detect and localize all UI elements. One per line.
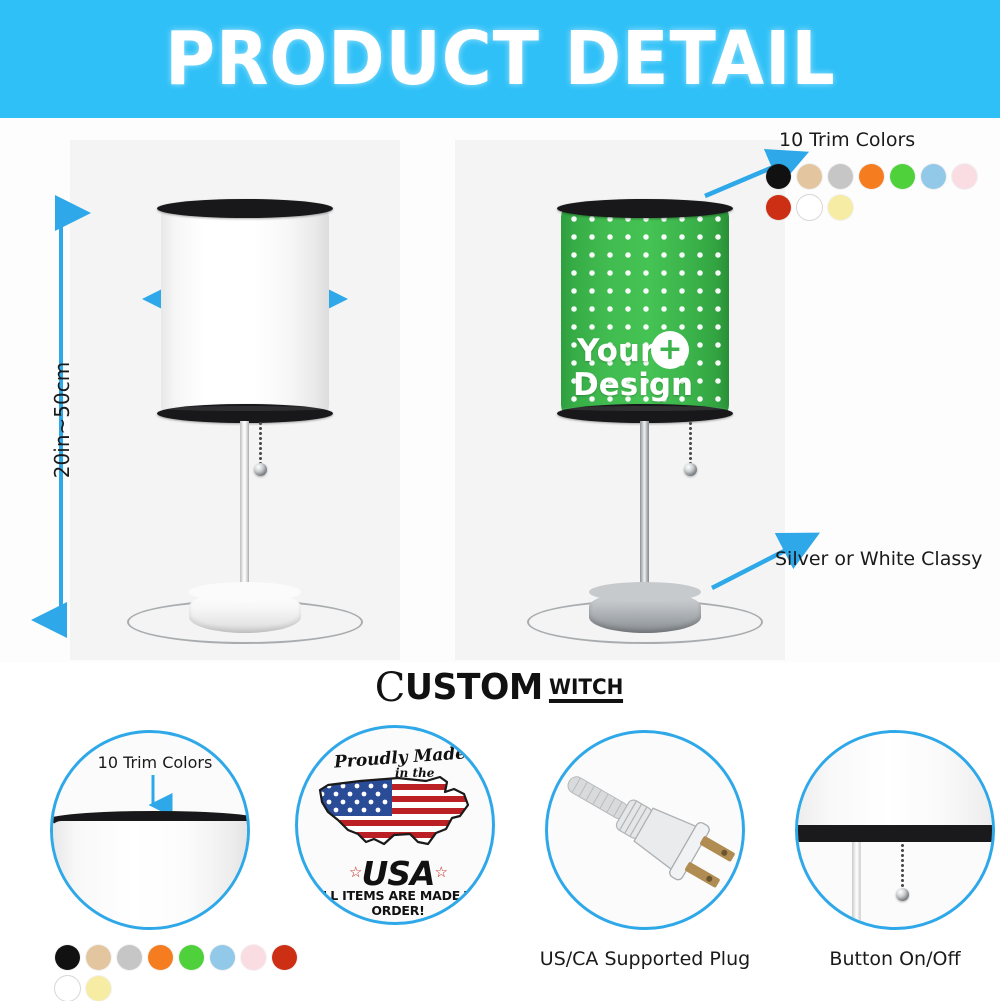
swatch-orange[interactable] <box>148 945 173 970</box>
logo-witch-text: WITCH <box>549 677 623 703</box>
feature-button-on-off <box>795 730 995 930</box>
swatch-light-blue[interactable] <box>921 164 946 189</box>
base-top <box>589 582 701 602</box>
swatch-tan[interactable] <box>86 945 111 970</box>
pull-chain-closeup[interactable] <box>901 843 904 891</box>
swatch-white[interactable] <box>55 976 80 1001</box>
swatch-white[interactable] <box>797 195 822 220</box>
swatch-yellow[interactable] <box>86 976 111 1001</box>
pull-chain-ball-closeup[interactable] <box>896 888 909 901</box>
caption-plug: US/CA Supported Plug <box>505 948 785 970</box>
lamp-shade-white <box>161 207 329 415</box>
swatch-black[interactable] <box>766 164 791 189</box>
shade-trim-closeup <box>795 825 995 842</box>
trim-colors-heading: 10 Trim Colors <box>779 129 915 151</box>
bottom-trim-swatches[interactable] <box>55 945 325 1001</box>
base-top <box>189 582 301 602</box>
page-title: PRODUCT DETAIL <box>165 16 836 102</box>
design-text-line1: Your <box>577 335 655 368</box>
design-text-line2: Design <box>573 369 693 402</box>
pull-chain-ball <box>254 463 267 476</box>
swatch-red[interactable] <box>766 195 791 220</box>
trim-colors-swatches[interactable] <box>766 164 1000 220</box>
brand-logo: C USTOM WITCH <box>0 663 1000 713</box>
lamp-shade-green: Your + Design <box>561 207 729 415</box>
shade-trim-top <box>557 199 733 218</box>
pull-chain <box>689 421 692 466</box>
swatch-gray[interactable] <box>117 945 142 970</box>
lamp-base-white <box>189 591 301 633</box>
swatch-orange[interactable] <box>859 164 884 189</box>
lamp-pole <box>240 421 249 599</box>
lamp-green: Your + Design <box>400 118 800 663</box>
usa-map-flag-icon <box>314 772 482 856</box>
shade-surface-closeup <box>795 730 995 825</box>
lamp-white <box>0 118 400 663</box>
power-plug-icon <box>548 733 745 930</box>
add-design-plus-icon[interactable]: + <box>651 331 689 369</box>
swatch-red[interactable] <box>272 945 297 970</box>
lamp-base-silver <box>589 591 701 633</box>
feature-made-in-usa: Proudly Made in the <box>295 725 495 925</box>
star-icon-left: ☆ <box>349 863 361 881</box>
caption-switch: Button On/Off <box>780 948 1000 970</box>
shade-surface-closeup <box>51 821 250 930</box>
logo-custom-text: USTOM <box>405 670 543 706</box>
logo-c-mark: C <box>375 668 406 708</box>
product-showcase-stage: 7in~18cm 20in~50cm <box>0 118 1000 663</box>
swatch-black[interactable] <box>55 945 80 970</box>
lamp-pole <box>640 421 649 599</box>
swatch-light-blue[interactable] <box>210 945 235 970</box>
swatch-green[interactable] <box>890 164 915 189</box>
usa-subtext: ALL ITEMS ARE MADE TO ORDER! <box>298 888 495 918</box>
pull-chain <box>259 421 262 466</box>
pull-chain-ball <box>684 463 697 476</box>
swatch-tan[interactable] <box>797 164 822 189</box>
swatch-green[interactable] <box>179 945 204 970</box>
star-icon-right: ☆ <box>435 863 447 881</box>
header-banner: PRODUCT DETAIL <box>0 0 1000 118</box>
feature-trim-colors: 10 Trim Colors <box>50 730 250 930</box>
swatch-gray[interactable] <box>828 164 853 189</box>
base-finish-label: Silver or White Classy <box>775 548 982 570</box>
shade-surface <box>161 207 329 415</box>
swatch-pink[interactable] <box>952 164 977 189</box>
swatch-yellow[interactable] <box>828 195 853 220</box>
swatch-pink[interactable] <box>241 945 266 970</box>
feature-power-plug <box>545 730 745 930</box>
lamp-pole-closeup <box>852 842 861 930</box>
shade-trim-top <box>157 199 333 218</box>
